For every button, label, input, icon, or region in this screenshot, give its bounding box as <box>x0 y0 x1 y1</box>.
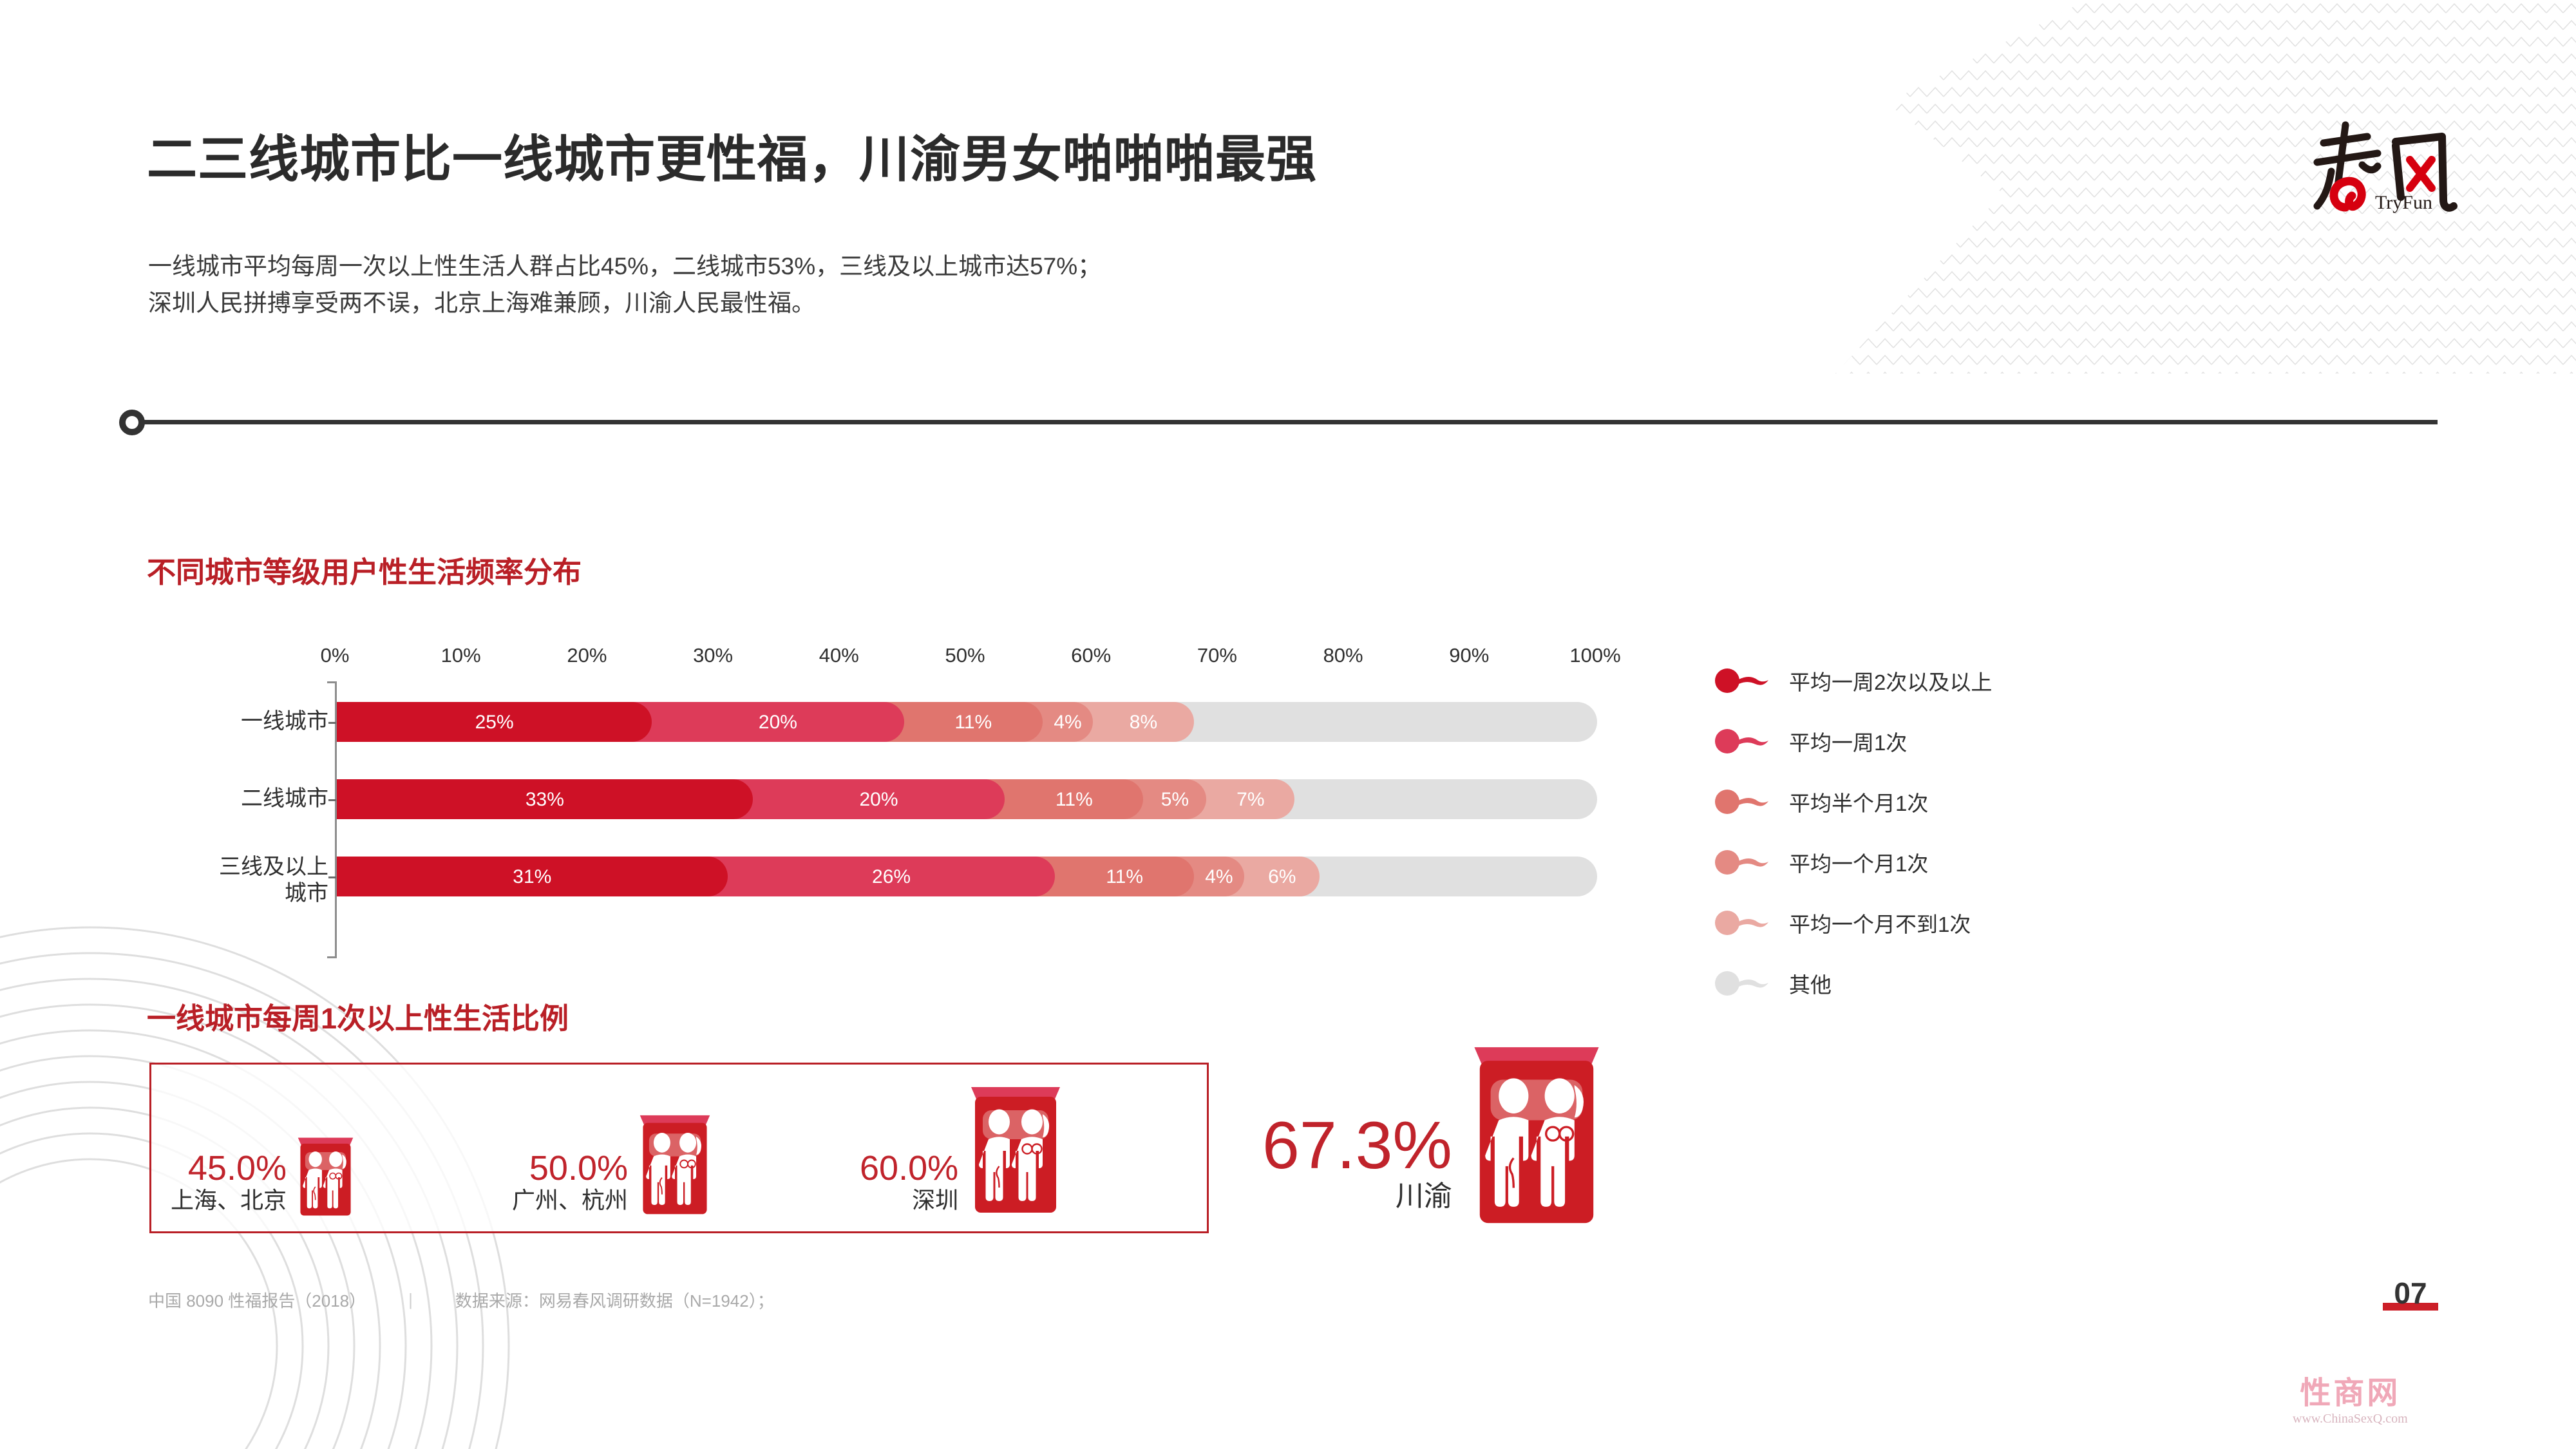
page-number: 07 <box>2383 1278 2438 1311</box>
x-axis-tick: 30% <box>693 644 733 667</box>
legend-item[interactable]: 其他 <box>1713 953 2293 1014</box>
chart-title: 不同城市等级用户性生活频率分布 <box>147 549 582 591</box>
infographic-page: TryFun 二三线城市比一线城市更性福，川渝男女啪啪啪最强 一线城市平均每周一… <box>0 0 2576 1449</box>
bar-segment-label: 20% <box>759 712 797 734</box>
footer-separator: | <box>408 1290 413 1310</box>
bar-segment-label: 4% <box>1054 712 1081 734</box>
legend-item[interactable]: 平均一个月1次 <box>1713 832 2293 893</box>
highlight-region-name: 川渝 <box>1262 1180 1452 1214</box>
y-axis-category-label: 三线及以上城市 <box>219 854 328 907</box>
y-axis-category-label: 二线城市 <box>241 786 328 812</box>
legend-sperm-icon <box>1713 787 1772 817</box>
bar-segment-label: 11% <box>954 712 992 734</box>
axis-cap-top <box>327 681 337 683</box>
page-title: 二三线城市比一线城市更性福，川渝男女啪啪啪最强 <box>147 119 1317 191</box>
section-divider <box>119 404 2438 438</box>
site-watermark: 性商网 www.ChinaSexQ.com <box>2293 1378 2408 1426</box>
x-axis-tick: 0% <box>321 644 350 667</box>
watermark-url: www.ChinaSexQ.com <box>2293 1412 2408 1426</box>
bar-segment-label: 4% <box>1205 866 1233 888</box>
page-subtitle: 一线城市平均每周一次以上性生活人群占比45%，二线城市53%，三线及以上城市达5… <box>148 248 1101 322</box>
axis-cap-bottom <box>327 956 337 958</box>
x-axis-tick: 90% <box>1449 644 1489 667</box>
legend-sperm-icon <box>1713 969 1772 998</box>
footer: 中国 8090 性福报告（2018） | 数据来源：网易春风调研数据（N=194… <box>148 1288 774 1312</box>
bar-segment-label: 20% <box>859 789 898 811</box>
legend-label: 其他 <box>1789 968 1832 999</box>
x-axis-tick: 80% <box>1323 644 1363 667</box>
city-text: 60.0%深圳 <box>860 1150 958 1220</box>
legend-label: 平均半个月1次 <box>1789 786 1928 817</box>
highlight-text: 67.3% 川渝 <box>1262 1112 1452 1233</box>
city-name: 深圳 <box>860 1187 958 1213</box>
subtitle-line-2: 深圳人民拼搏享受两不误，北京上海难兼顾，川渝人民最性福。 <box>148 285 1101 321</box>
bar-segment-label: 31% <box>513 866 551 888</box>
bar-segment-label: 11% <box>1106 866 1143 888</box>
legend-item[interactable]: 平均半个月1次 <box>1713 772 2293 832</box>
city-name: 广州、杭州 <box>512 1187 628 1213</box>
city-stat-item: 60.0%深圳 <box>860 1068 1064 1220</box>
city-stat-item: 50.0%广州、杭州 <box>512 1101 713 1220</box>
city-percentage: 50.0% <box>512 1150 628 1186</box>
stacked-bar-chart: 0%10%20%30%40%50%60%70%80%90%100% 25%20%… <box>148 644 1629 953</box>
x-axis-tick: 40% <box>819 644 859 667</box>
x-axis-tick: 20% <box>567 644 607 667</box>
section2-title: 一线城市每周1次以上性生活比例 <box>147 995 569 1037</box>
bar-segment-label: 8% <box>1130 712 1157 734</box>
bed-couple-icon <box>967 1068 1064 1220</box>
city-stat-item: 45.0%上海、北京 <box>171 1126 355 1220</box>
legend-label: 平均一个月不到1次 <box>1789 907 1971 938</box>
x-axis-tick: 70% <box>1197 644 1237 667</box>
y-axis-tick-mark <box>328 722 336 724</box>
legend-sperm-icon <box>1713 848 1772 877</box>
y-axis-tick-mark <box>328 876 336 878</box>
x-axis-tick: 60% <box>1071 644 1111 667</box>
city-comparison-box: 45.0%上海、北京50.0%广州、杭州60.0%深圳 <box>149 1063 1209 1233</box>
chart-legend: 平均一周2次以及以上平均一周1次平均半个月1次平均一个月1次平均一个月不到1次其… <box>1713 650 2293 1014</box>
legend-label: 平均一周1次 <box>1789 726 1907 757</box>
x-axis-tick: 10% <box>441 644 481 667</box>
bar-segment-label: 5% <box>1161 789 1189 811</box>
x-axis-tick: 50% <box>945 644 985 667</box>
city-name: 上海、北京 <box>171 1187 287 1213</box>
legend-label: 平均一周2次以及以上 <box>1789 665 1992 696</box>
footer-report-name: 中国 8090 性福报告（2018） <box>148 1288 366 1312</box>
subtitle-line-1: 一线城市平均每周一次以上性生活人群占比45%，二线城市53%，三线及以上城市达5… <box>148 248 1101 285</box>
legend-item[interactable]: 平均一周1次 <box>1713 711 2293 772</box>
legend-label: 平均一个月1次 <box>1789 847 1928 878</box>
y-axis-category-label: 一线城市 <box>241 708 328 735</box>
footer-data-source: 数据来源：网易春风调研数据（N=1942）； <box>455 1288 774 1312</box>
highlight-percentage: 67.3% <box>1262 1112 1452 1180</box>
bed-couple-icon <box>637 1101 713 1220</box>
city-percentage: 45.0% <box>171 1150 287 1186</box>
divider-ring-icon <box>119 410 145 435</box>
logo-tryfun-text: TryFun <box>2375 192 2432 214</box>
bar-segment-label: 6% <box>1268 866 1296 888</box>
legend-sperm-icon <box>1713 666 1772 696</box>
legend-item[interactable]: 平均一个月不到1次 <box>1713 893 2293 953</box>
bar-segment-label: 26% <box>872 866 911 888</box>
y-axis-tick-mark <box>328 799 336 801</box>
legend-sperm-icon <box>1713 726 1772 756</box>
city-text: 45.0%上海、北京 <box>171 1150 287 1220</box>
bar-segment-label: 7% <box>1236 789 1264 811</box>
bed-couple-icon <box>296 1126 355 1220</box>
highlight-stat: 67.3% 川渝 <box>1262 1021 1604 1233</box>
chart-x-axis: 0%10%20%30%40%50%60%70%80%90%100% <box>335 644 1597 675</box>
brand-logo: TryFun <box>2306 109 2479 232</box>
bar-segment-label: 33% <box>526 789 564 811</box>
x-axis-tick: 100% <box>1569 644 1620 667</box>
divider-line <box>142 420 2438 424</box>
bar-segment-label: 25% <box>475 712 514 734</box>
watermark-name: 性商网 <box>2293 1378 2408 1409</box>
legend-sperm-icon <box>1713 908 1772 938</box>
bar-segment-label: 11% <box>1056 789 1093 811</box>
city-text: 50.0%广州、杭州 <box>512 1150 628 1220</box>
city-percentage: 60.0% <box>860 1150 958 1186</box>
bed-couple-icon <box>1469 1021 1604 1233</box>
legend-item[interactable]: 平均一周2次以及以上 <box>1713 650 2293 711</box>
